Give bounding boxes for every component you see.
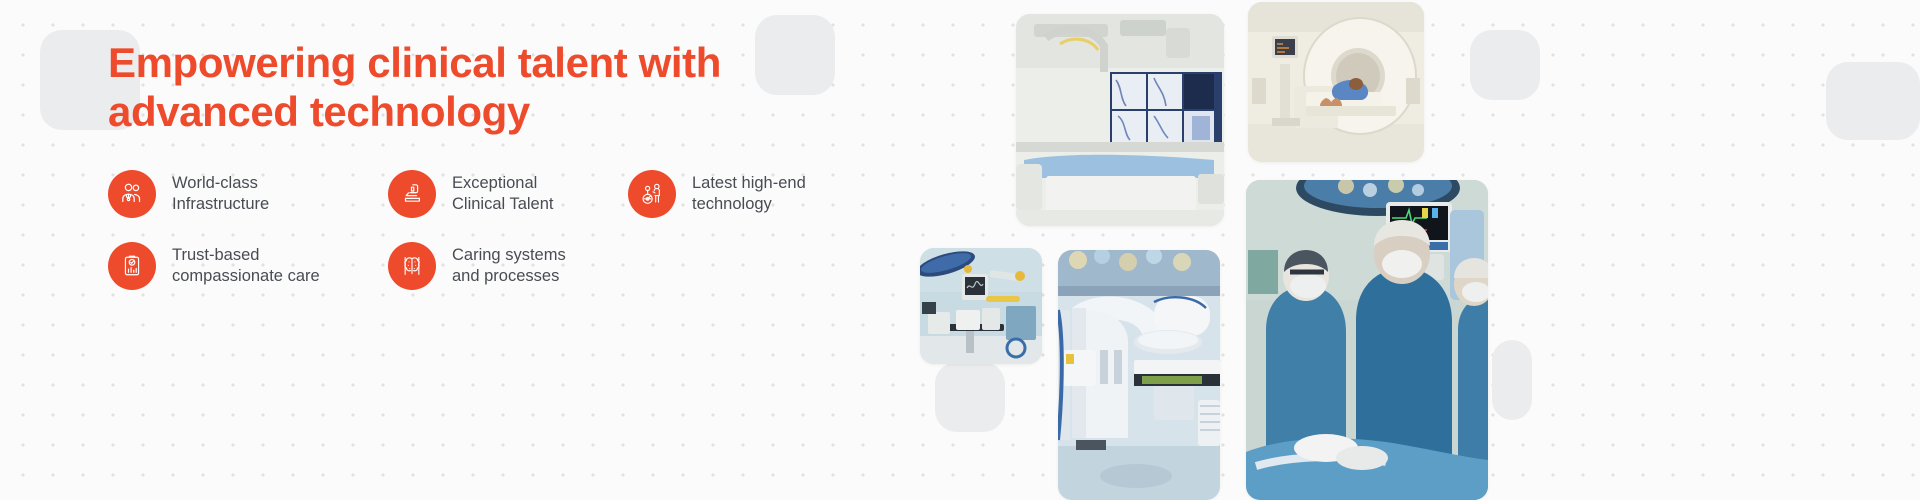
page-title: Empowering clinical talent with advanced… [108, 38, 808, 136]
doctors-team-icon [108, 170, 156, 218]
operating-theatre-photo [920, 248, 1042, 364]
feature-item-latest-high-end-technology[interactable]: Latest high-end technology [628, 170, 868, 218]
feature-item-world-class-infrastructure[interactable]: World-class Infrastructure [108, 170, 388, 218]
clipboard-chart-icon [108, 242, 156, 290]
linear-accelerator-photo [1058, 250, 1220, 500]
feature-row-1: World-class Infrastructure [108, 170, 938, 218]
feature-label: Latest high-end technology [692, 173, 806, 215]
feature-label: Trust-based compassionate care [172, 245, 320, 287]
feature-label: World-class Infrastructure [172, 173, 269, 215]
brain-icon [388, 242, 436, 290]
mri-scanner-photo [1248, 2, 1424, 162]
feature-row-2: Trust-based compassionate care [108, 242, 938, 290]
feature-item-trust-based-compassionate-care[interactable]: Trust-based compassionate care [108, 242, 388, 290]
feature-item-caring-systems-and-processes[interactable]: Caring systems and processes [388, 242, 628, 290]
feature-label: Exceptional Clinical Talent [452, 173, 554, 215]
headline-line-2: advanced technology [108, 88, 530, 135]
feature-item-exceptional-clinical-talent[interactable]: Exceptional Clinical Talent [388, 170, 628, 218]
headline-line-1: Empowering clinical talent with [108, 39, 721, 86]
surgery-team-photo [1246, 180, 1488, 500]
photo-collage [900, 0, 1920, 500]
wheelchair-care-icon [628, 170, 676, 218]
cath-lab-photo [1016, 14, 1224, 226]
microscope-icon [388, 170, 436, 218]
left-content: Empowering clinical talent with advanced… [108, 38, 938, 290]
feature-list: World-class Infrastructure [108, 170, 938, 290]
hero-banner: Empowering clinical talent with advanced… [0, 0, 1920, 500]
feature-label: Caring systems and processes [452, 245, 566, 287]
